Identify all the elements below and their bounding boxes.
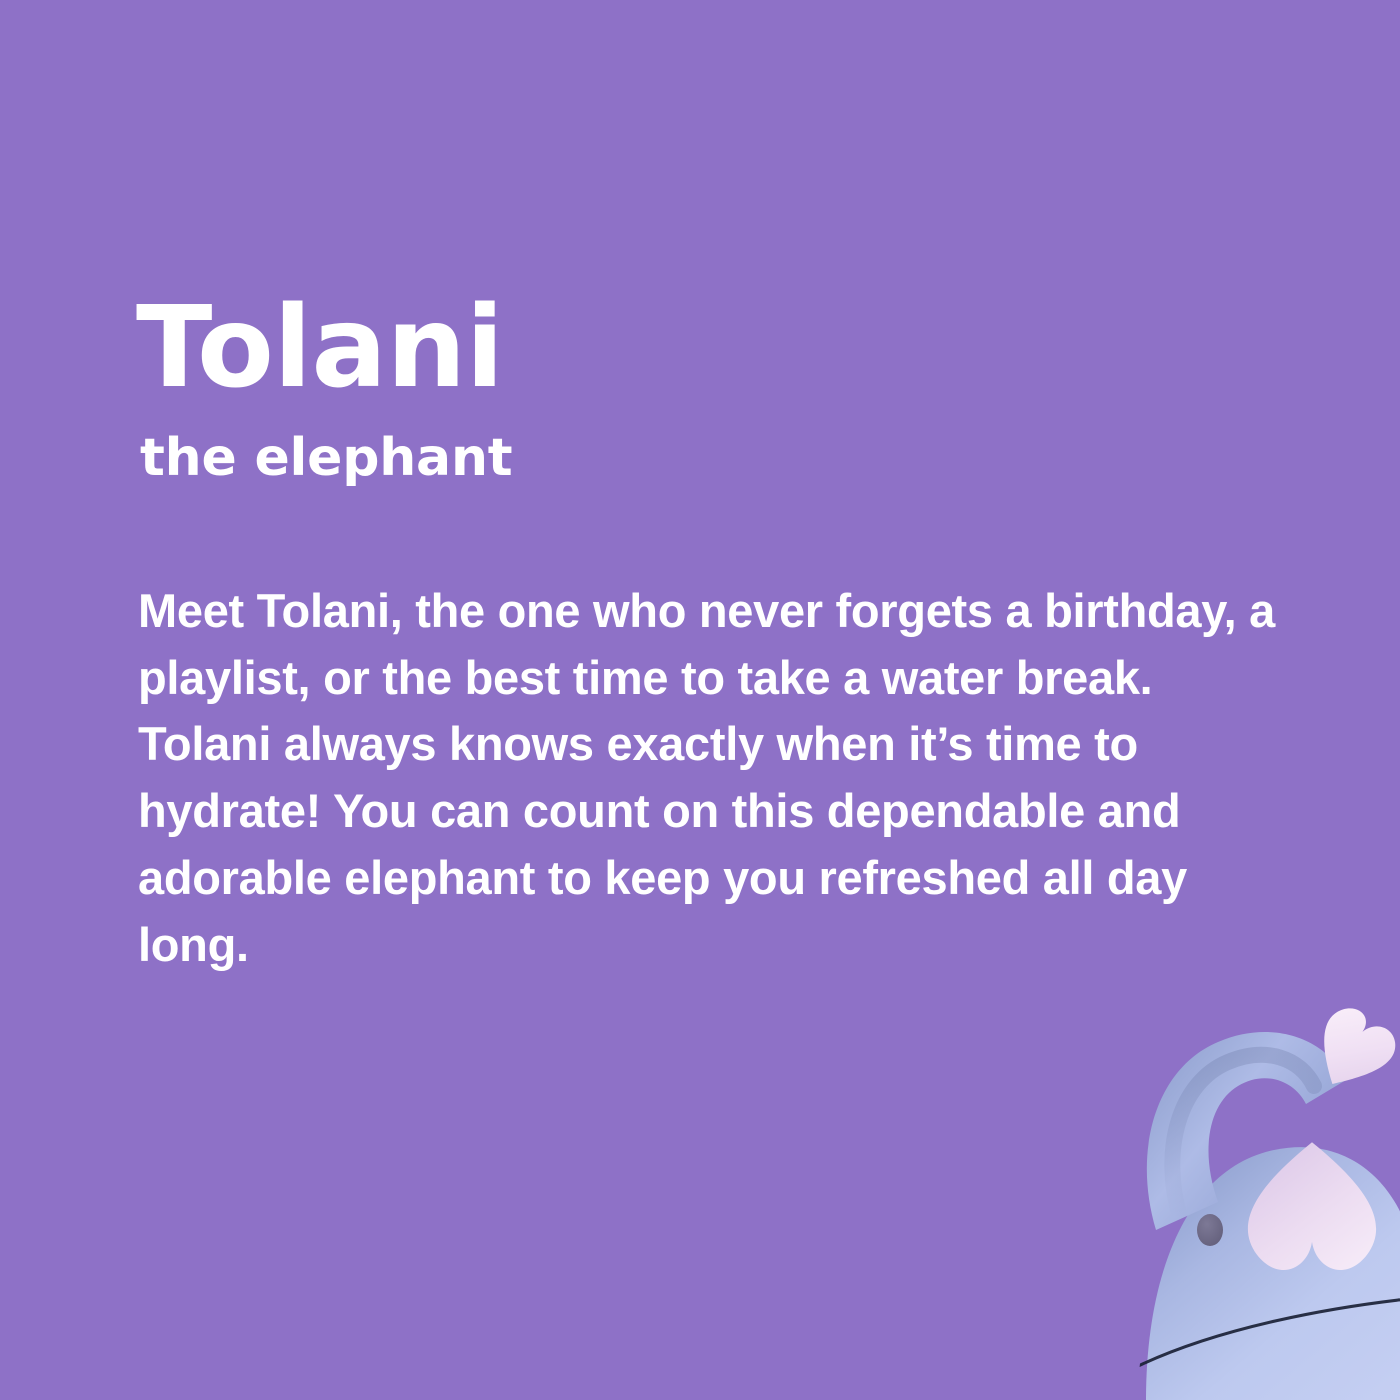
elephant-body: [1156, 1198, 1400, 1400]
ear-heart: [1248, 1142, 1376, 1270]
elephant-trunk: [1147, 1032, 1346, 1230]
trunk-tip-heart: [1302, 1000, 1400, 1103]
character-subtitle: the elephant: [140, 432, 1316, 484]
elephant-eye: [1197, 1214, 1223, 1246]
character-description: Meet Tolani, the one who never forgets a…: [138, 578, 1298, 978]
seam-line: [1130, 1294, 1400, 1370]
elephant-head: [1146, 1147, 1400, 1400]
character-card: Tolani the elephant Meet Tolani, the one…: [0, 0, 1400, 1400]
text-block: Tolani the elephant Meet Tolani, the one…: [136, 292, 1316, 978]
page-title: Tolani: [136, 292, 1316, 404]
